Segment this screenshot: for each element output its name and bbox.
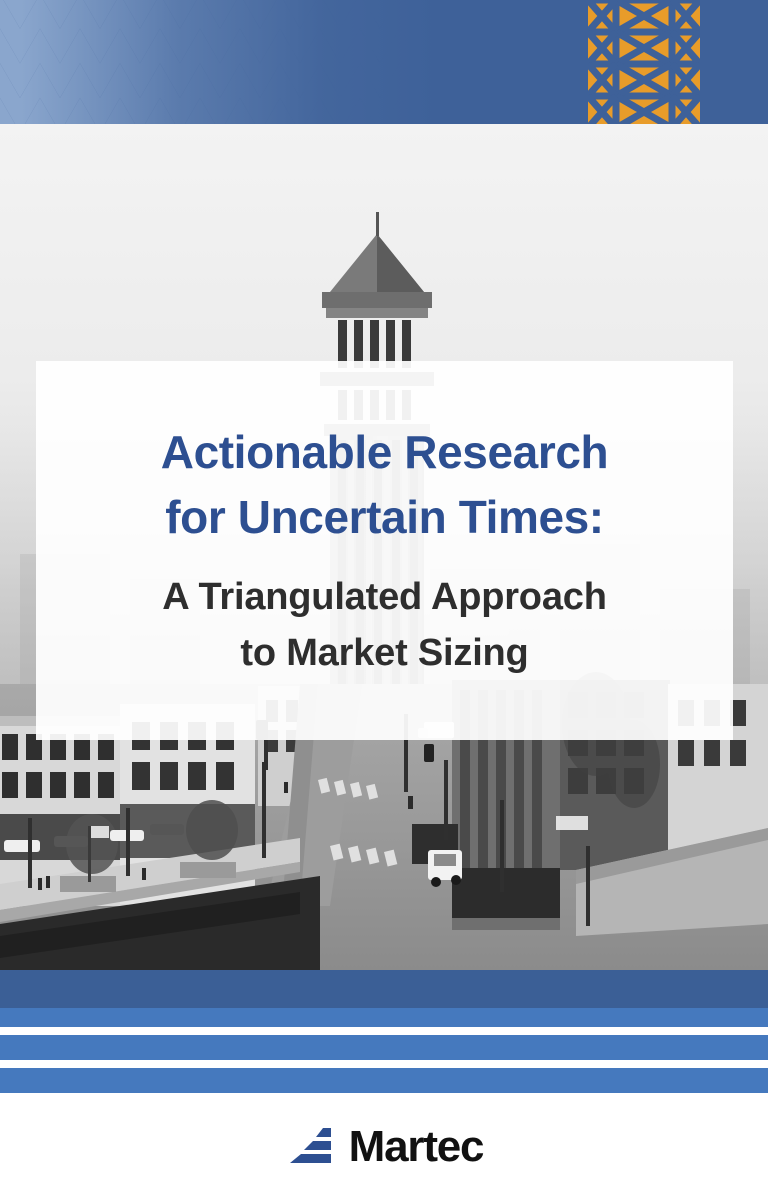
page-title: Actionable Research for Uncertain Times: xyxy=(137,420,632,551)
footer-stripe-light-2 xyxy=(0,1035,768,1060)
triangle-lattice-pattern xyxy=(0,0,520,124)
martec-logo: Martec xyxy=(0,1118,768,1176)
martec-triangle-mark xyxy=(285,1126,341,1168)
cover-page: Actionable Research for Uncertain Times:… xyxy=(0,0,768,1200)
page-subtitle: A Triangulated Approach to Market Sizing xyxy=(138,569,630,681)
subtitle-line-1: A Triangulated Approach xyxy=(162,569,606,625)
martec-wordmark: Martec xyxy=(349,1125,484,1169)
title-line-2: for Uncertain Times: xyxy=(161,485,608,550)
footer-stripe-light-1 xyxy=(0,1008,768,1027)
title-card: Actionable Research for Uncertain Times:… xyxy=(36,361,733,740)
footer-stripe-light-3 xyxy=(0,1068,768,1093)
title-line-1: Actionable Research xyxy=(161,420,608,485)
footer-stripe-dark xyxy=(0,970,768,1008)
subtitle-line-2: to Market Sizing xyxy=(162,625,606,681)
